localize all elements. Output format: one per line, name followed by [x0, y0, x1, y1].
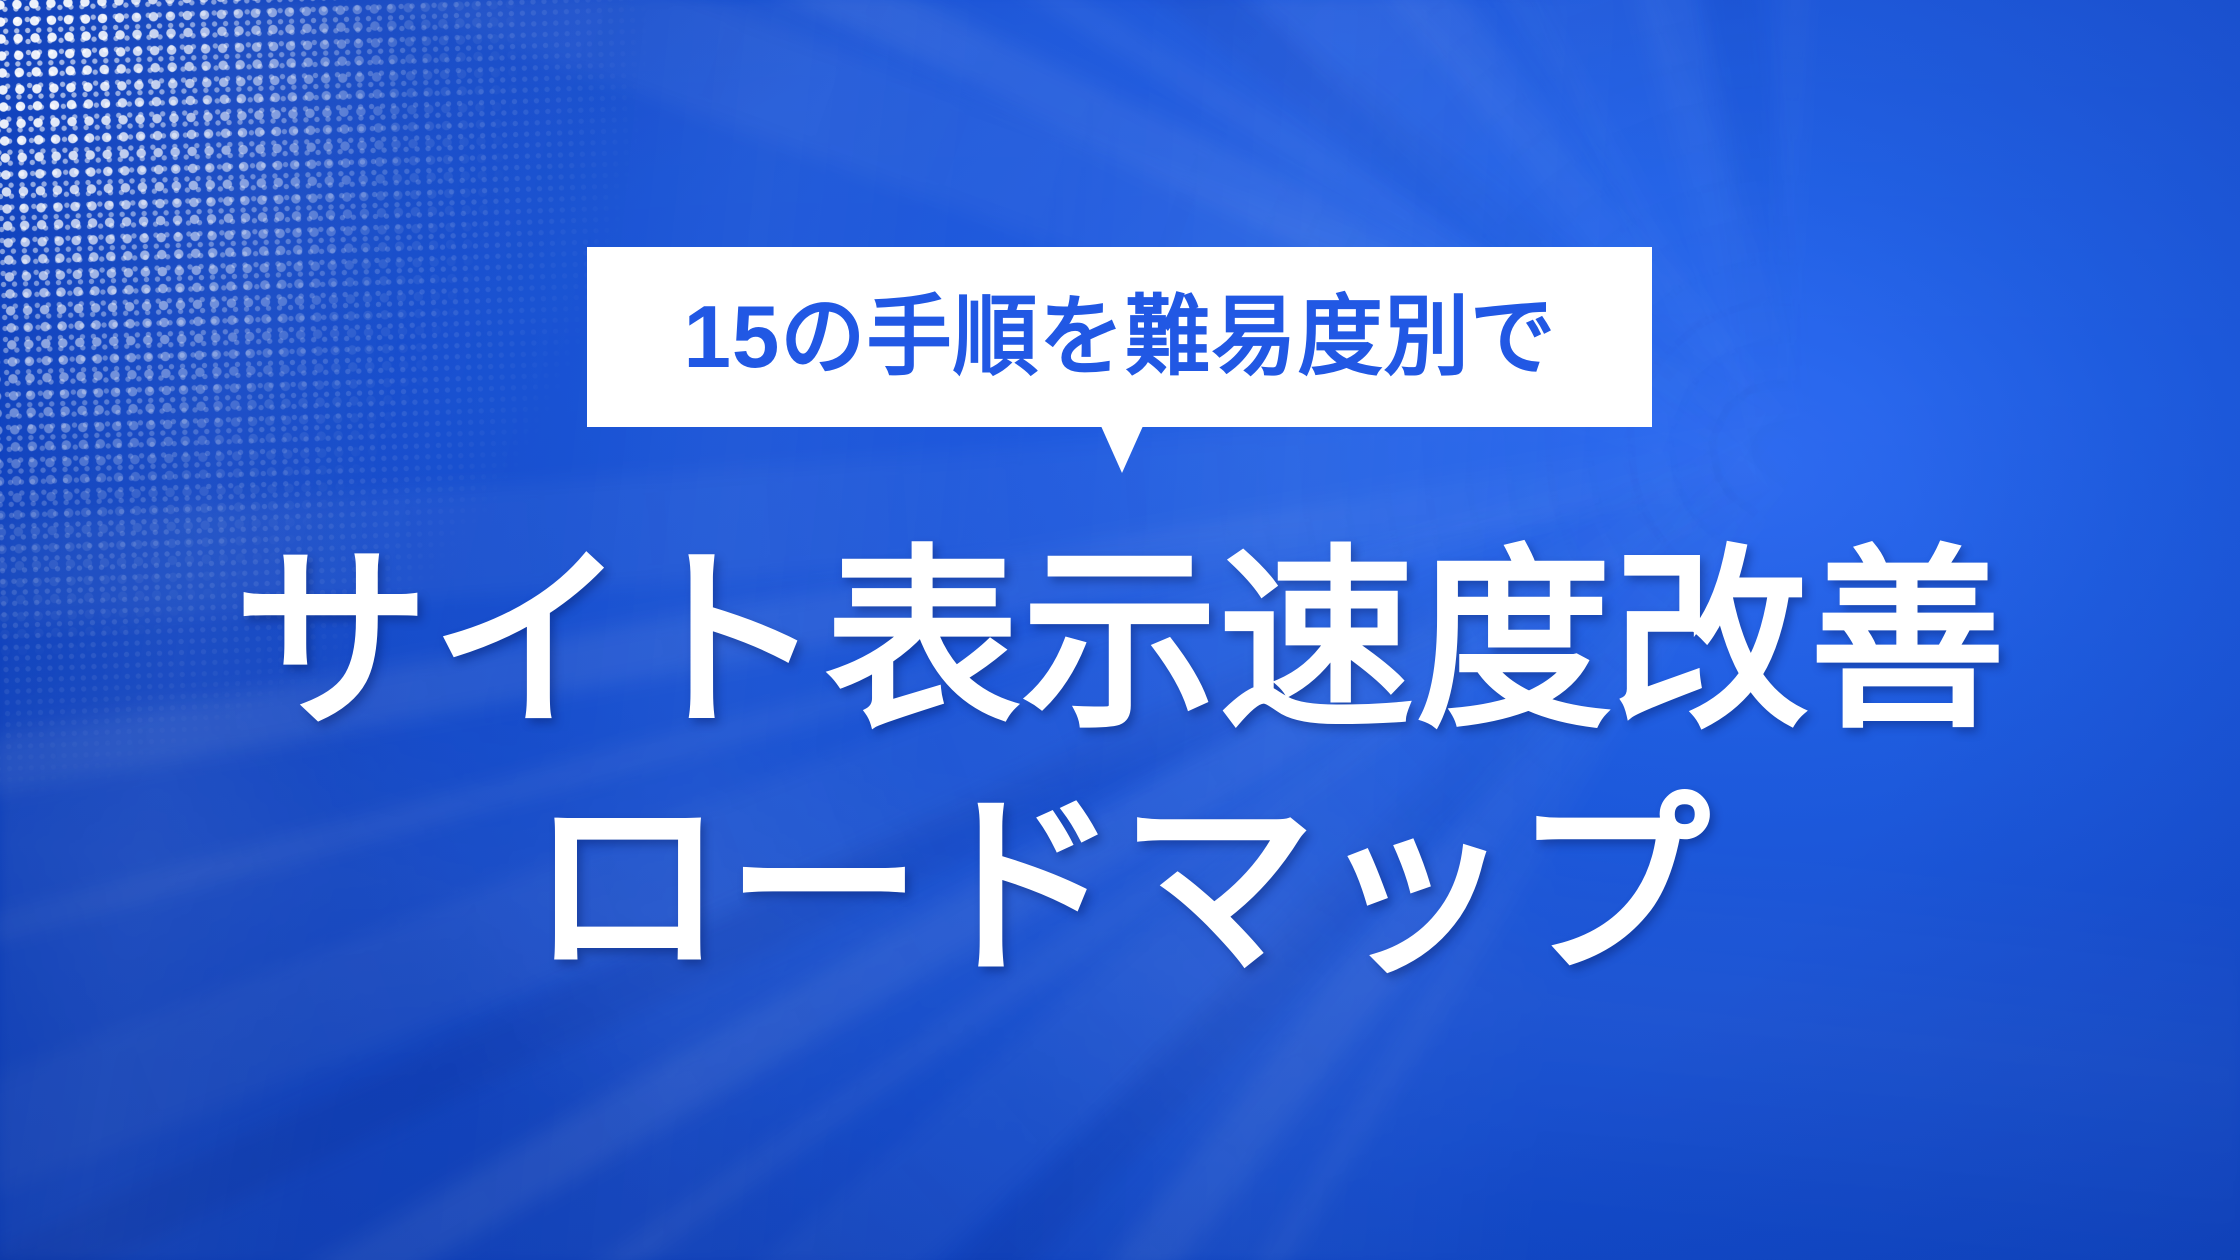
badge-label: 15の手順を難易度別で: [683, 293, 1556, 381]
headline-line-1: サイト表示速度改善: [0, 526, 2240, 757]
badge-tail-icon: [1101, 426, 1143, 473]
badge-callout: 15の手順を難易度別で: [587, 247, 1652, 427]
hero-banner: 15の手順を難易度別で サイト表示速度改善 ロードマップ: [0, 0, 2240, 1260]
hero-content: 15の手順を難易度別で サイト表示速度改善 ロードマップ: [0, 0, 2240, 1260]
page-title: サイト表示速度改善 ロードマップ: [0, 526, 2240, 1003]
headline-line-2: ロードマップ: [0, 772, 2240, 1003]
